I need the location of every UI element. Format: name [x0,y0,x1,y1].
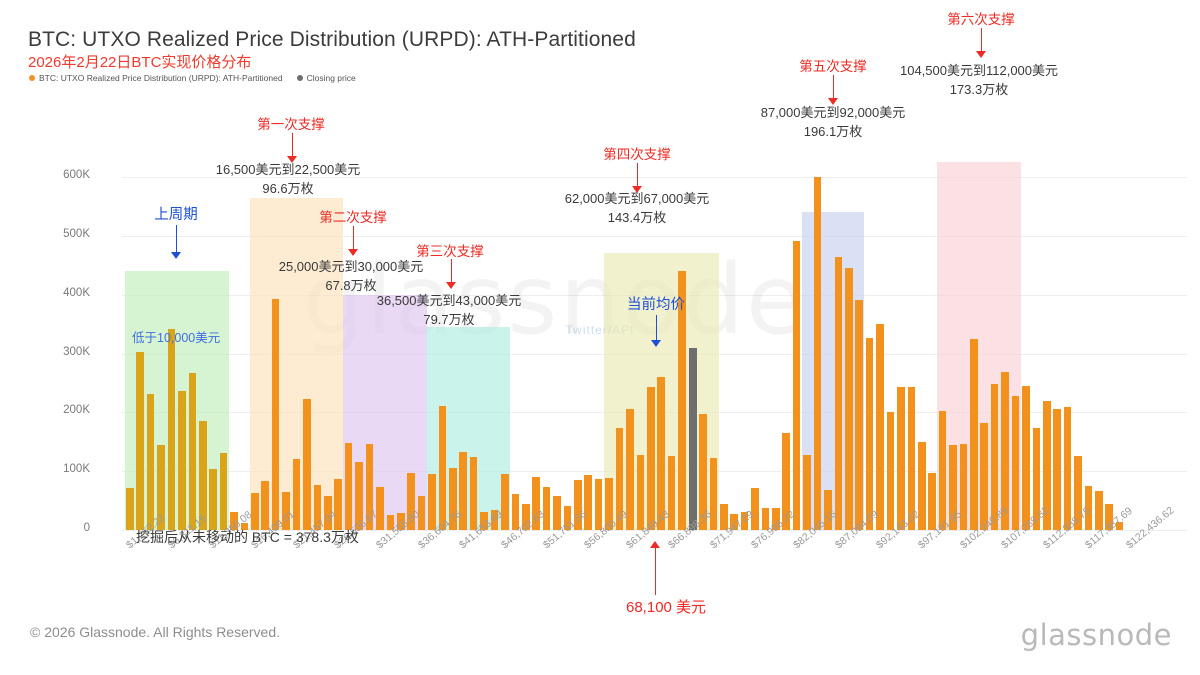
bar[interactable] [626,409,634,530]
bar[interactable] [1012,396,1020,530]
bar[interactable] [209,469,217,530]
annotation-support-4-title: 第四次支撑 [592,143,682,163]
annotation-support-6-title: 第六次支撑 [936,8,1026,28]
annotation-current-avg-price: 当前均价 [616,293,696,314]
bar[interactable] [439,406,447,530]
bar[interactable] [345,443,353,530]
annotation-support-1-range: 16,500美元到22,500美元 [201,161,375,179]
bar[interactable] [1053,409,1061,530]
arrow-down-icon [287,133,297,163]
bar[interactable] [866,338,874,530]
bar[interactable] [595,479,603,530]
bar[interactable] [637,455,645,530]
bar[interactable] [1095,491,1103,530]
bar[interactable] [543,487,551,530]
annotation-previous-cycle: 上周期 [137,203,215,224]
bar[interactable] [168,329,176,530]
annotation-support-3-range: 36,500美元到43,000美元 [362,292,536,310]
bar[interactable] [980,423,988,530]
bar[interactable] [126,488,134,530]
bar[interactable] [272,299,280,530]
annotation-support-5-range: 87,000美元到92,000美元 [746,104,920,122]
annotation-support-6-range: 104,500美元到112,000美元 [889,62,1069,80]
annotation-support-1-title: 第一次支撑 [246,113,336,133]
bar[interactable] [501,474,509,530]
bar[interactable] [136,352,144,530]
arrow-down-icon [828,75,838,105]
bar[interactable] [835,257,843,530]
annotation-support-3-title: 第三次支撑 [405,240,495,260]
closing-price-bar[interactable] [689,348,698,530]
arrow-down-icon [446,259,456,289]
bar[interactable] [887,412,895,530]
bar[interactable] [647,387,655,530]
arrow-down-icon [348,226,358,256]
annotation-below-10k: 低于10,000美元 [132,327,220,346]
arrow-down-icon [651,315,661,347]
annotation-support-5-title: 第五次支撑 [788,55,878,75]
annotation-mined-never-moved: 挖掘后从未移动的 BTC = 378.3万枚 [136,527,359,547]
bar[interactable] [470,457,478,530]
bar[interactable] [928,473,936,530]
copyright-text: © 2026 Glassnode. All Rights Reserved. [30,624,280,640]
arrow-down-icon [976,28,986,58]
bar[interactable] [793,241,801,530]
bar[interactable] [220,453,228,530]
bar[interactable] [751,488,759,530]
bar[interactable] [251,493,259,530]
annotation-support-2-title: 第二次支撑 [308,206,398,226]
bar[interactable] [897,387,905,530]
brand-logo: glassnode [1021,618,1172,652]
annotation-support-1-amount: 96.6万枚 [201,180,375,198]
arrow-down-icon [171,225,181,259]
arrow-down-icon [632,163,642,193]
bar[interactable] [855,300,863,530]
annotation-bottom-price: 68,100 美元 [626,596,706,617]
annotation-support-4-range: 62,000美元到67,000美元 [550,190,724,208]
chart-root: BTC: UTXO Realized Price Distribution (U… [0,0,1200,675]
annotation-support-2-range: 25,000美元到30,000美元 [264,258,438,276]
bar[interactable] [178,391,186,530]
bar[interactable] [189,373,197,530]
bar[interactable] [970,339,978,530]
bar[interactable] [428,474,436,530]
annotation-support-5-amount: 196.1万枚 [746,123,920,141]
annotation-support-3-amount: 79.7万枚 [362,311,536,329]
bar[interactable] [147,394,155,530]
bar[interactable] [803,455,811,530]
bar[interactable] [876,324,884,530]
annotation-support-4-amount: 143.4万枚 [550,209,724,227]
bar[interactable] [1064,407,1072,530]
bar[interactable] [939,411,947,530]
bar[interactable] [261,481,269,530]
bar[interactable] [814,177,822,530]
bar[interactable] [303,399,311,530]
bar[interactable] [845,268,853,530]
arrow-up-icon [650,541,660,589]
bar[interactable] [334,479,342,530]
bar[interactable] [376,487,384,530]
bar[interactable] [584,475,592,530]
annotation-support-6-amount: 173.3万枚 [889,81,1069,99]
bar[interactable] [1022,386,1030,530]
